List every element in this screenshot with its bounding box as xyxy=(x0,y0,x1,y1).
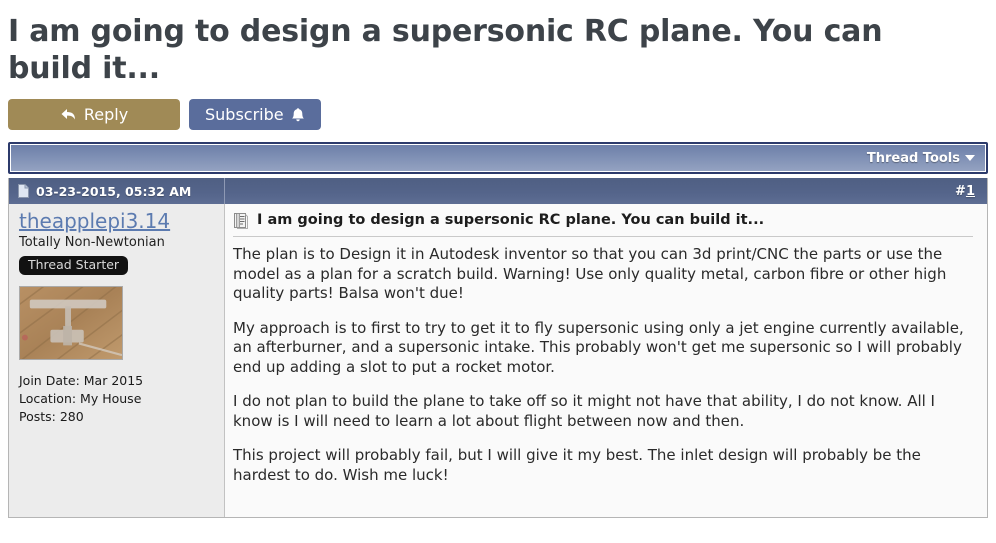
reply-arrow-icon xyxy=(60,107,77,122)
post-user-column: theapplepi3.14 Totally Non-Newtonian Thr… xyxy=(9,204,225,517)
thread-tools-menu[interactable]: Thread Tools xyxy=(867,151,975,166)
forum-thread-page: I am going to design a supersonic RC pla… xyxy=(0,0,996,543)
post-header-bar: 03-23-2015, 05:32 AM #1 xyxy=(9,178,987,204)
avatar[interactable] xyxy=(19,286,123,360)
user-stat-location: Location: My House xyxy=(19,390,214,408)
post-container: 03-23-2015, 05:32 AM #1 theapplepi3.14 T… xyxy=(8,178,988,518)
user-stats: Join Date: Mar 2015 Location: My House P… xyxy=(19,372,214,425)
post-number: 1 xyxy=(966,184,975,199)
reply-button-label: Reply xyxy=(84,107,128,123)
post-paragraph: This project will probably fail, but I w… xyxy=(233,446,973,485)
post-date-cell: 03-23-2015, 05:32 AM xyxy=(9,178,225,204)
post-document-icon xyxy=(233,212,249,230)
post-paragraph: I do not plan to build the plane to take… xyxy=(233,392,973,431)
post-body: theapplepi3.14 Totally Non-Newtonian Thr… xyxy=(9,204,987,517)
subscribe-button[interactable]: Subscribe xyxy=(189,99,321,130)
username-link[interactable]: theapplepi3.14 xyxy=(19,210,170,233)
thread-tools-label: Thread Tools xyxy=(867,151,960,166)
thread-tools-container: Thread Tools xyxy=(8,142,988,174)
thread-tools-bar: Thread Tools xyxy=(11,145,985,171)
bell-icon xyxy=(291,107,305,123)
post-title: I am going to design a supersonic RC pla… xyxy=(257,212,764,229)
post-title-divider xyxy=(233,236,973,237)
post-paragraph: My approach is to first to try to get it… xyxy=(233,319,973,378)
post-paragraph: The plan is to Design it in Autodesk inv… xyxy=(233,245,973,304)
user-stat-posts: Posts: 280 xyxy=(19,408,214,426)
user-stat-joindate: Join Date: Mar 2015 xyxy=(19,372,214,390)
post-text: The plan is to Design it in Autodesk inv… xyxy=(233,245,973,485)
user-title: Totally Non-Newtonian xyxy=(19,235,214,251)
post-timestamp: 03-23-2015, 05:32 AM xyxy=(36,184,191,199)
subscribe-button-label: Subscribe xyxy=(205,107,284,123)
thread-action-bar: Reply Subscribe xyxy=(0,87,996,130)
chevron-down-icon xyxy=(965,155,975,161)
post-number-prefix: # xyxy=(955,184,966,199)
post-message-column: I am going to design a supersonic RC pla… xyxy=(225,204,987,517)
page-title: I am going to design a supersonic RC pla… xyxy=(0,0,996,87)
post-number-cell: #1 xyxy=(225,178,987,204)
page-icon xyxy=(18,184,29,198)
reply-button[interactable]: Reply xyxy=(8,99,180,130)
post-permalink[interactable]: #1 xyxy=(955,184,975,199)
avatar-image xyxy=(20,287,122,359)
thread-starter-badge: Thread Starter xyxy=(19,256,128,276)
post-title-row: I am going to design a supersonic RC pla… xyxy=(233,212,973,236)
